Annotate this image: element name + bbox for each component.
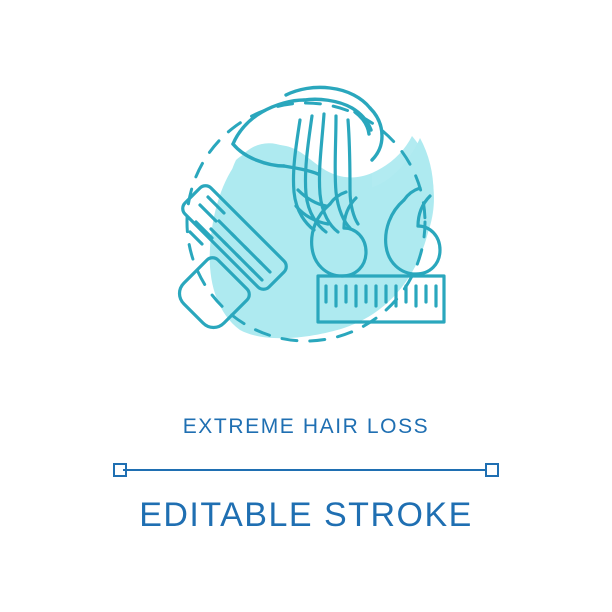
page-title: EXTREME HAIR LOSS (0, 412, 612, 442)
divider-square-right (485, 463, 499, 477)
caption-block: EXTREME HAIR LOSS EDITABLE STROKE (0, 412, 612, 538)
divider-line (123, 469, 489, 471)
divider (113, 460, 499, 480)
extreme-hair-loss-illustration (0, 0, 612, 400)
page-subtitle: EDITABLE STROKE (0, 492, 612, 538)
icon-card: EXTREME HAIR LOSS EDITABLE STROKE (0, 0, 612, 612)
